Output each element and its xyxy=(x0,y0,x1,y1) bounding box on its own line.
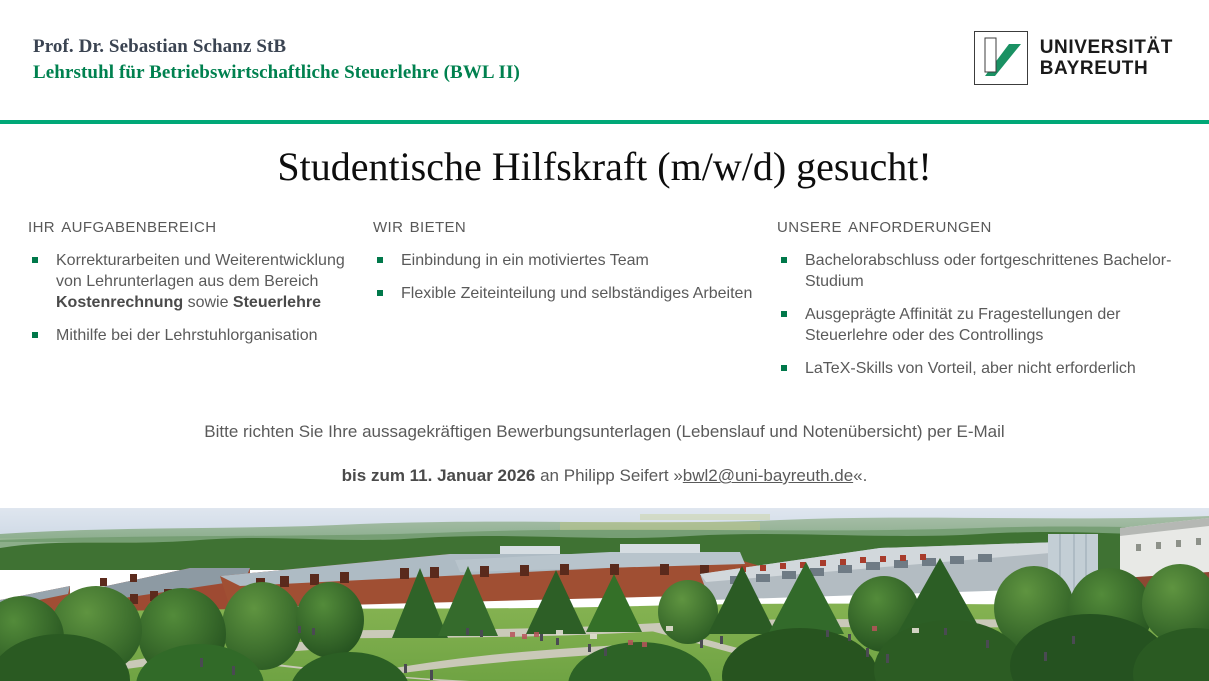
list-item: Korrekturarbeiten und Weiterentwicklung … xyxy=(28,250,363,313)
page-header: Prof. Dr. Sebastian Schanz StB Lehrstuhl… xyxy=(0,0,1209,122)
list-item: Mithilfe bei der Lehrstuhlorganisation xyxy=(28,325,363,346)
page-title: Studentische Hilfskraft (m/w/d) gesucht! xyxy=(0,143,1209,190)
list-item: Ausgeprägte Affinität zu Fragestellungen… xyxy=(777,304,1182,346)
column-heading: wir Bieten xyxy=(373,214,763,238)
university-logo: UNIVERSITÄT BAYREUTH xyxy=(974,31,1173,85)
list-item-text: sowie xyxy=(183,294,233,311)
logo-line-2: BAYREUTH xyxy=(1040,58,1173,79)
university-wordmark: UNIVERSITÄT BAYREUTH xyxy=(1040,37,1173,79)
list-item-text: Einbindung in ein motiviertes Team xyxy=(401,252,649,269)
list-item: Bachelorabschluss oder fortgeschrittenes… xyxy=(777,250,1182,292)
deadline-line: bis zum 11. Januar 2026 an Philipp Seife… xyxy=(0,464,1209,488)
professor-name: Prof. Dr. Sebastian Schanz StB xyxy=(33,34,520,60)
column-wir-bieten: wir Bieten Einbindung in ein motiviertes… xyxy=(373,214,763,316)
contact-suffix: «. xyxy=(853,466,867,485)
list-item-text: Korrekturarbeiten und Weiterentwicklung … xyxy=(56,252,345,290)
list-item-text: Ausgeprägte Affinität zu Fragestellungen… xyxy=(805,306,1120,344)
header-text-block: Prof. Dr. Sebastian Schanz StB Lehrstuhl… xyxy=(33,34,520,86)
column-heading: Unsere Anforderungen xyxy=(777,214,1182,238)
emphasis-text: Steuerlehre xyxy=(233,294,321,311)
chair-name: Lehrstuhl für Betriebswirtschaftliche St… xyxy=(33,60,520,86)
list-item-text: Bachelorabschluss oder fortgeschrittenes… xyxy=(805,252,1171,290)
list-item: Flexible Zeiteinteilung und selbständige… xyxy=(373,283,763,304)
bullet-list: Einbindung in ein motiviertes TeamFlexib… xyxy=(373,250,763,304)
contact-person-text: an Philipp Seifert » xyxy=(535,466,682,485)
list-item-text: Flexible Zeiteinteilung und selbständige… xyxy=(401,285,752,302)
application-instructions: Bitte richten Sie Ihre aussagekräftigen … xyxy=(0,420,1209,444)
column-heading: Ihr Aufgabenbereich xyxy=(28,214,363,238)
list-item-text: Mithilfe bei der Lehrstuhlorganisation xyxy=(56,327,317,344)
application-deadline: bis zum 11. Januar 2026 xyxy=(342,466,536,485)
bullet-list: Bachelorabschluss oder fortgeschrittenes… xyxy=(777,250,1182,379)
campus-photo xyxy=(0,508,1209,681)
list-item-text: LaTeX-Skills von Vorteil, aber nicht erf… xyxy=(805,360,1136,377)
list-item: Einbindung in ein motiviertes Team xyxy=(373,250,763,271)
email-link[interactable]: bwl2@uni-bayreuth.de xyxy=(683,466,853,485)
logo-line-1: UNIVERSITÄT xyxy=(1040,37,1173,58)
content-columns: Ihr Aufgabenbereich Korrekturarbeiten un… xyxy=(0,214,1209,394)
column-anforderungen: Unsere Anforderungen Bachelorabschluss o… xyxy=(777,214,1182,391)
university-logo-mark-icon xyxy=(974,31,1028,85)
header-divider xyxy=(0,120,1209,124)
list-item: LaTeX-Skills von Vorteil, aber nicht erf… xyxy=(777,358,1182,379)
emphasis-text: Kostenrechnung xyxy=(56,294,183,311)
bullet-list: Korrekturarbeiten und Weiterentwicklung … xyxy=(28,250,363,346)
column-aufgabenbereich: Ihr Aufgabenbereich Korrekturarbeiten un… xyxy=(28,214,363,358)
contact-block: Bitte richten Sie Ihre aussagekräftigen … xyxy=(0,420,1209,488)
